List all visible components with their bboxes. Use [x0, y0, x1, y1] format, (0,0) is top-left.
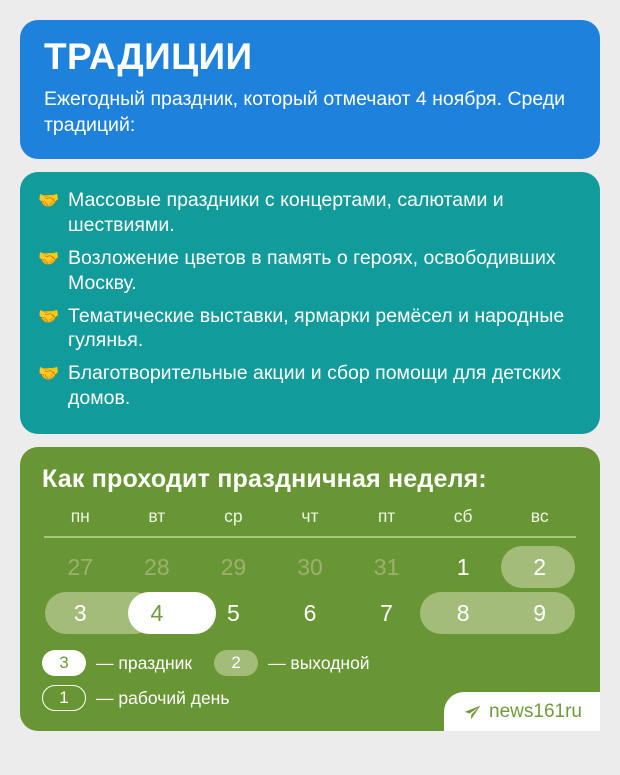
legend-row: 3 — праздник 2 — выходной: [42, 650, 578, 676]
list-item: 🤝 Массовые праздники с концертами, салют…: [38, 188, 578, 243]
list-item: 🤝 Благотворительные акции и сбор помощи …: [38, 361, 578, 416]
traditions-header-card: ТРАДИЦИИ Ежегодный праздник, который отм…: [20, 20, 600, 159]
calendar-week-row: 3 4 5 6 7 8 9: [42, 590, 578, 636]
list-item: 🤝 Тематические выставки, ярмарки ремёсел…: [38, 304, 578, 359]
calendar-day[interactable]: 1: [425, 556, 502, 579]
weekday-label-sat: сб: [425, 506, 502, 536]
list-item-text: Возложение цветов в память о героях, осв…: [68, 246, 578, 301]
list-item: 🤝 Возложение цветов в память о героях, о…: [38, 246, 578, 301]
calendar-day[interactable]: 9: [501, 602, 578, 625]
calendar-title: Как проходит праздничная неделя:: [42, 465, 578, 494]
page-title: ТРАДИЦИИ: [44, 38, 576, 77]
legend-label-workday: — рабочий день: [96, 688, 229, 709]
legend-chip-weekend: 2: [214, 650, 258, 676]
handshake-icon: 🤝: [38, 361, 68, 386]
calendar-weekday-header: пн вт ср чт пт сб вс: [42, 506, 578, 536]
traditions-list-card: 🤝 Массовые праздники с концертами, салют…: [20, 172, 600, 435]
legend-label-holiday: — праздник: [96, 653, 192, 674]
legend-chip-workday: 1: [42, 685, 86, 711]
calendar-day[interactable]: 28: [119, 556, 196, 579]
calendar-day[interactable]: 8: [425, 602, 502, 625]
weekday-label-sun: вс: [501, 506, 578, 536]
list-item-text: Массовые праздники с концертами, салютам…: [68, 188, 578, 243]
calendar-day[interactable]: 2: [501, 556, 578, 579]
calendar-day[interactable]: 4: [119, 602, 196, 625]
calendar-divider: [44, 536, 576, 538]
watermark: news161ru: [444, 692, 600, 731]
list-item-text: Тематические выставки, ярмарки ремёсел и…: [68, 304, 578, 359]
calendar-day[interactable]: 7: [348, 602, 425, 625]
calendar-day[interactable]: 5: [195, 602, 272, 625]
watermark-text: news161ru: [489, 701, 582, 723]
legend-chip-holiday: 3: [42, 650, 86, 676]
handshake-icon: 🤝: [38, 304, 68, 329]
legend-label-weekend: — выходной: [268, 653, 370, 674]
weekday-label-wed: ср: [195, 506, 272, 536]
calendar-week-row: 27 28 29 30 31 1 2: [42, 544, 578, 590]
weekday-label-fri: пт: [348, 506, 425, 536]
calendar-day[interactable]: 27: [42, 556, 119, 579]
infographic-page: ТРАДИЦИИ Ежегодный праздник, который отм…: [0, 0, 620, 775]
calendar-day[interactable]: 3: [42, 602, 119, 625]
list-item-text: Благотворительные акции и сбор помощи дл…: [68, 361, 578, 416]
calendar-day[interactable]: 31: [348, 556, 425, 579]
telegram-icon: [464, 705, 481, 720]
page-subtitle: Ежегодный праздник, который отмечают 4 н…: [44, 87, 576, 139]
weekday-label-tue: вт: [119, 506, 196, 536]
handshake-icon: 🤝: [38, 246, 68, 271]
handshake-icon: 🤝: [38, 188, 68, 213]
calendar-day[interactable]: 6: [272, 602, 349, 625]
holiday-week-card: Как проходит праздничная неделя: пн вт с…: [20, 447, 600, 731]
weekday-label-thu: чт: [272, 506, 349, 536]
weekday-label-mon: пн: [42, 506, 119, 536]
calendar-day[interactable]: 30: [272, 556, 349, 579]
calendar-day[interactable]: 29: [195, 556, 272, 579]
